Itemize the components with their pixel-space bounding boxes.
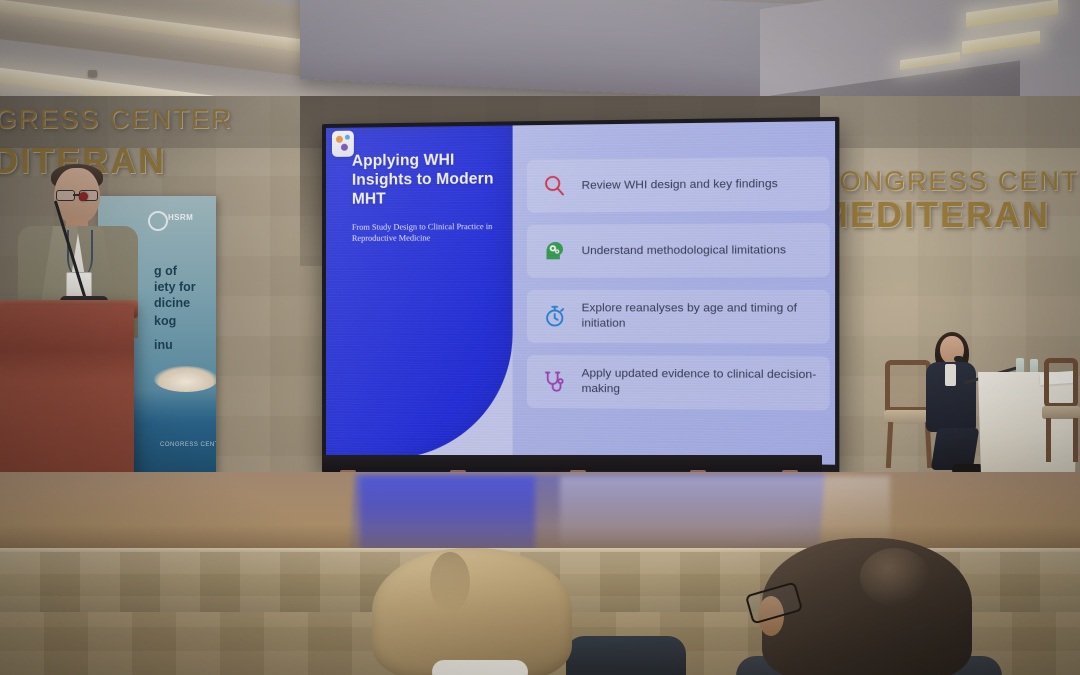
ceiling-soffit xyxy=(300,0,820,101)
chair-backrest xyxy=(1044,358,1078,408)
smoke-detector-icon xyxy=(88,70,97,77)
chair-leg xyxy=(1046,418,1051,462)
banner-line-1: g of xyxy=(154,264,177,279)
banner-line-5: inu xyxy=(154,338,173,353)
banner-line-4: kog xyxy=(154,314,176,329)
slide-bullet-list: Review WHI design and key findings Under… xyxy=(527,157,830,423)
slide-bullet-text: Explore reanalyses by age and timing of … xyxy=(582,302,822,332)
slide-bullet-text: Review WHI design and key findings xyxy=(582,176,778,193)
slide-title: Applying WHI Insights to Modern MHT xyxy=(352,150,504,209)
eyeglasses-icon xyxy=(56,190,98,199)
banner-footer-text: CONGRESS CENTER MEDITERAN xyxy=(160,442,216,448)
audience-shoulder xyxy=(566,636,686,675)
app-logo-icon xyxy=(332,131,354,157)
table-microphone-icon xyxy=(954,356,963,362)
slide-canvas: Applying WHI Insights to Modern MHT From… xyxy=(326,121,835,465)
seated-panelist xyxy=(922,336,984,476)
stethoscope-icon xyxy=(541,368,568,395)
audience-scalp-highlight xyxy=(860,548,930,606)
stopwatch-icon xyxy=(541,303,568,330)
chair-leg xyxy=(1073,418,1078,462)
conference-room-photo: NGRESS CENTER EDITERAN CONGRESS CENTER M… xyxy=(0,0,1080,675)
banner-logo-text: HSRM xyxy=(168,213,193,222)
slide-bullet-text: Apply updated evidence to clinical decis… xyxy=(582,367,822,399)
banner-ring-icon xyxy=(148,211,168,231)
slide-subtitle: From Study Design to Clinical Practice i… xyxy=(352,221,498,244)
presentation-screen[interactable]: Applying WHI Insights to Modern MHT From… xyxy=(326,121,835,471)
microphone-icon xyxy=(79,192,88,201)
banner-logo: HSRM xyxy=(148,210,206,228)
banner-island-graphic xyxy=(154,366,216,392)
slide-bullet-row: Explore reanalyses by age and timing of … xyxy=(527,290,830,344)
wall-sign-right-line2: MEDITERAN xyxy=(818,194,1050,236)
chair-leg xyxy=(886,422,893,468)
head-gears-icon xyxy=(541,238,568,265)
wall-sign-right-line1: CONGRESS CENTER xyxy=(818,166,1080,197)
chair-right xyxy=(1044,358,1080,463)
slide-bullet-row: Apply updated evidence to clinical decis… xyxy=(527,355,830,411)
audience-hair xyxy=(372,548,572,675)
audience-hair-part xyxy=(430,552,470,612)
magnifier-icon xyxy=(541,173,568,200)
slide-bullet-text: Understand methodological limitations xyxy=(582,243,786,259)
banner-line-2: iety for xyxy=(154,280,196,295)
slide-bullet-row: Review WHI design and key findings xyxy=(527,157,830,213)
slide-bullet-row: Understand methodological limitations xyxy=(527,223,830,278)
audience-member xyxy=(742,538,992,675)
audience-collar xyxy=(432,660,528,675)
wall-sign-left-line1: NGRESS CENTER xyxy=(0,104,233,135)
panelist-shirt xyxy=(945,364,956,386)
audience-member xyxy=(372,548,572,675)
banner-line-3: dicine xyxy=(154,296,190,311)
